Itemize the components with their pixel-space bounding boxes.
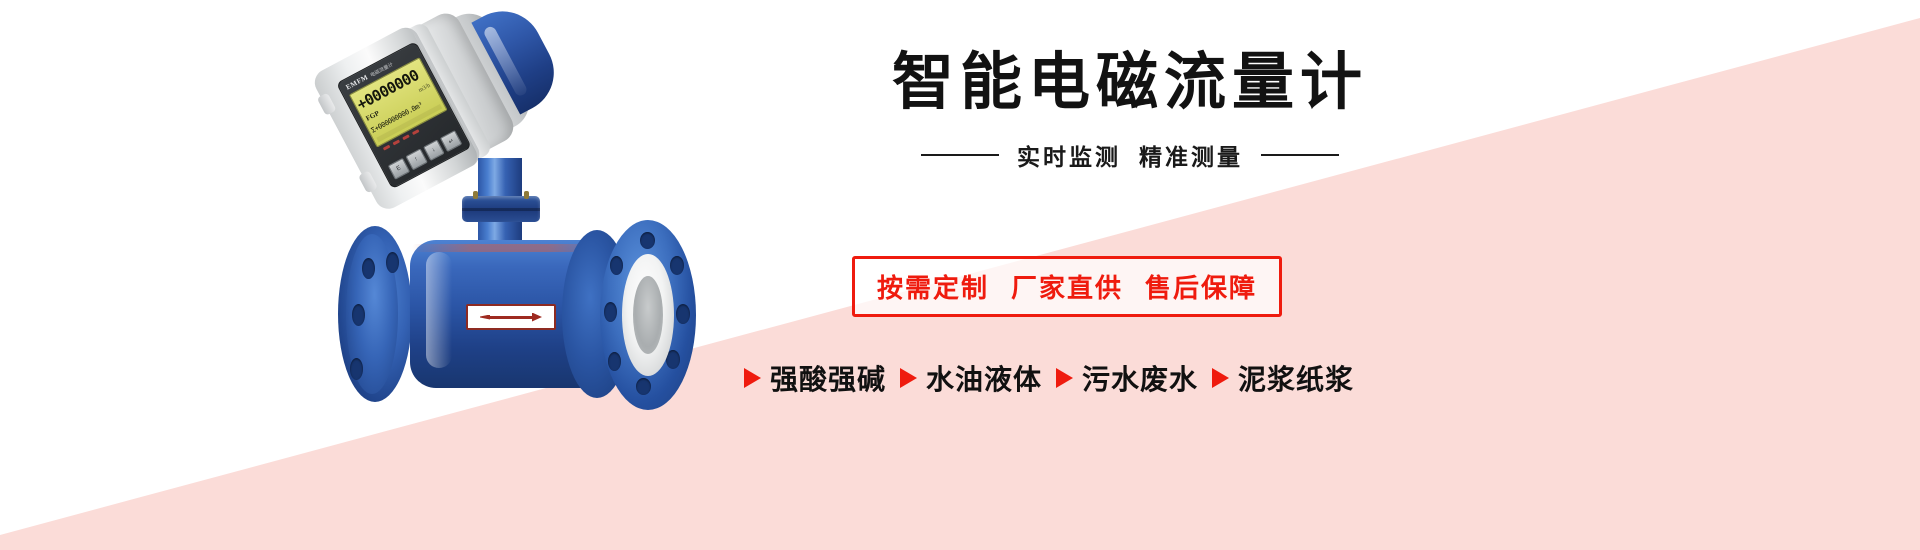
promo-item-1: 按需定制 [877, 274, 989, 304]
triangle-arrow-icon [744, 368, 761, 388]
flowmeter-product-image: EMFM电磁流量计 +0000000 FGP m3/h Σ+000000000.… [300, 8, 720, 428]
key-button[interactable]: E [388, 158, 410, 180]
flange-bolt-hole [604, 302, 617, 322]
feature-item: 水油液体 [900, 358, 1042, 398]
feature-item: 泥浆纸浆 [1212, 358, 1354, 398]
feature-item: 强酸强碱 [744, 358, 886, 398]
key-button[interactable]: ↵ [440, 130, 462, 152]
promo-item-2: 厂家直供 [1011, 274, 1123, 304]
led-indicator [392, 139, 400, 145]
feature-label: 水油液体 [926, 358, 1042, 398]
rule-left [921, 154, 999, 156]
flange-bolt-hole [636, 378, 651, 395]
arrow-head [532, 313, 542, 322]
flange-bolt-hole [676, 304, 690, 324]
flange-bolt-hole [640, 232, 655, 249]
feature-list: 强酸强碱 水油液体 污水废水 泥浆纸浆 [744, 358, 1354, 398]
flange-bolt-hole [670, 256, 684, 275]
flange-bolt-hole [386, 252, 399, 273]
subtitle-left: 实时监测 [1017, 145, 1121, 171]
flange-bolt-hole [362, 258, 375, 279]
triangle-arrow-icon [1056, 368, 1073, 388]
promo-item-3: 售后保障 [1145, 274, 1257, 304]
flange-bolt-hole [610, 256, 623, 275]
rule-right [1261, 154, 1339, 156]
feature-item: 污水废水 [1056, 358, 1198, 398]
feature-label: 强酸强碱 [770, 358, 886, 398]
flange-bolt-hole [608, 352, 621, 371]
led-indicator [383, 144, 391, 150]
subtitle-text: 实时监测精准测量 [1017, 138, 1243, 172]
feature-label: 泥浆纸浆 [1238, 358, 1354, 398]
arrow-shaft [488, 316, 534, 319]
page-title: 智能电磁流量计 [810, 48, 1450, 116]
subtitle-row: 实时监测精准测量 [810, 138, 1450, 172]
sensor-body-highlight [426, 252, 452, 368]
subtitle-right: 精准测量 [1139, 145, 1243, 171]
headline-block: 智能电磁流量计 实时监测精准测量 [810, 48, 1450, 172]
promo-box: 按需定制厂家直供售后保障 [852, 256, 1282, 317]
triangle-arrow-icon [1212, 368, 1229, 388]
flow-direction-label [466, 304, 556, 330]
feature-label: 污水废水 [1082, 358, 1198, 398]
riser-flange [462, 196, 540, 222]
flange-bolt-hole [352, 304, 365, 326]
flange-seam [462, 208, 540, 211]
led-indicator [402, 134, 410, 140]
triangle-arrow-icon [900, 368, 917, 388]
promo-text: 按需定制厂家直供售后保障 [877, 268, 1257, 305]
led-indicator [412, 129, 420, 135]
key-button[interactable]: ↑ [405, 149, 427, 171]
flange-bolt-hole [350, 358, 363, 380]
right-flange-bore [633, 276, 663, 354]
product-banner: EMFM电磁流量计 +0000000 FGP m3/h Σ+000000000.… [0, 0, 1920, 550]
flow-arrow-icon [480, 313, 542, 322]
